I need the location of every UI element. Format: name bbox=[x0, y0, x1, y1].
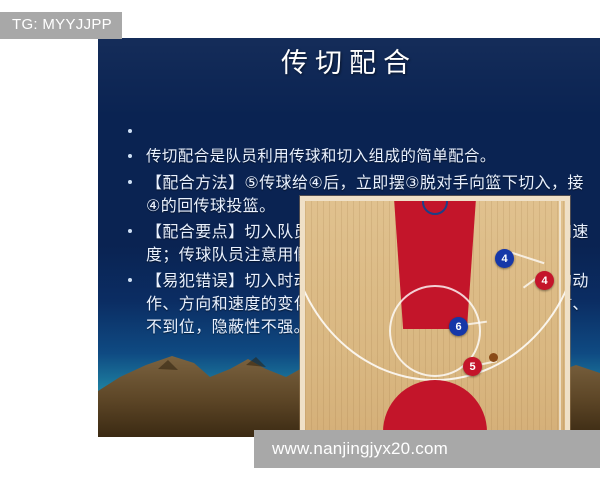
player-number: 4 bbox=[541, 275, 547, 287]
player-number: 4 bbox=[501, 253, 507, 265]
basketball-icon bbox=[489, 353, 498, 362]
bullet-dot-icon bbox=[128, 180, 132, 184]
sideline bbox=[559, 201, 561, 432]
bullet-dot-icon bbox=[128, 278, 132, 282]
basketball-court-image: 4 4 6 5 bbox=[300, 196, 570, 437]
bullet-text-1: 传切配合是队员利用传球和切入组成的简单配合。 bbox=[146, 145, 600, 168]
bullet-item-0 bbox=[98, 120, 600, 142]
player-number: 6 bbox=[455, 321, 461, 333]
player-token-defender-top: 4 bbox=[495, 249, 514, 268]
tg-tag-badge: TG: MYYJJPP bbox=[0, 12, 122, 39]
player-token-defender-mid: 6 bbox=[449, 317, 468, 336]
page-title: 传切配合 bbox=[98, 46, 600, 82]
bullet-dot-icon bbox=[128, 154, 132, 158]
bullet-dot-icon bbox=[128, 229, 132, 233]
player-token-offense-right: 4 bbox=[535, 271, 554, 290]
bullet-dot-icon bbox=[128, 129, 132, 133]
player-token-offense-ball: 5 bbox=[463, 357, 482, 376]
center-circle-paint bbox=[383, 380, 487, 432]
player-number: 5 bbox=[469, 361, 475, 373]
court-surface: 4 4 6 5 bbox=[305, 201, 565, 432]
watermark-url: www.nanjingjyx20.com bbox=[272, 438, 448, 460]
bullet-item-1: 传切配合是队员利用传球和切入组成的简单配合。 bbox=[98, 145, 600, 168]
